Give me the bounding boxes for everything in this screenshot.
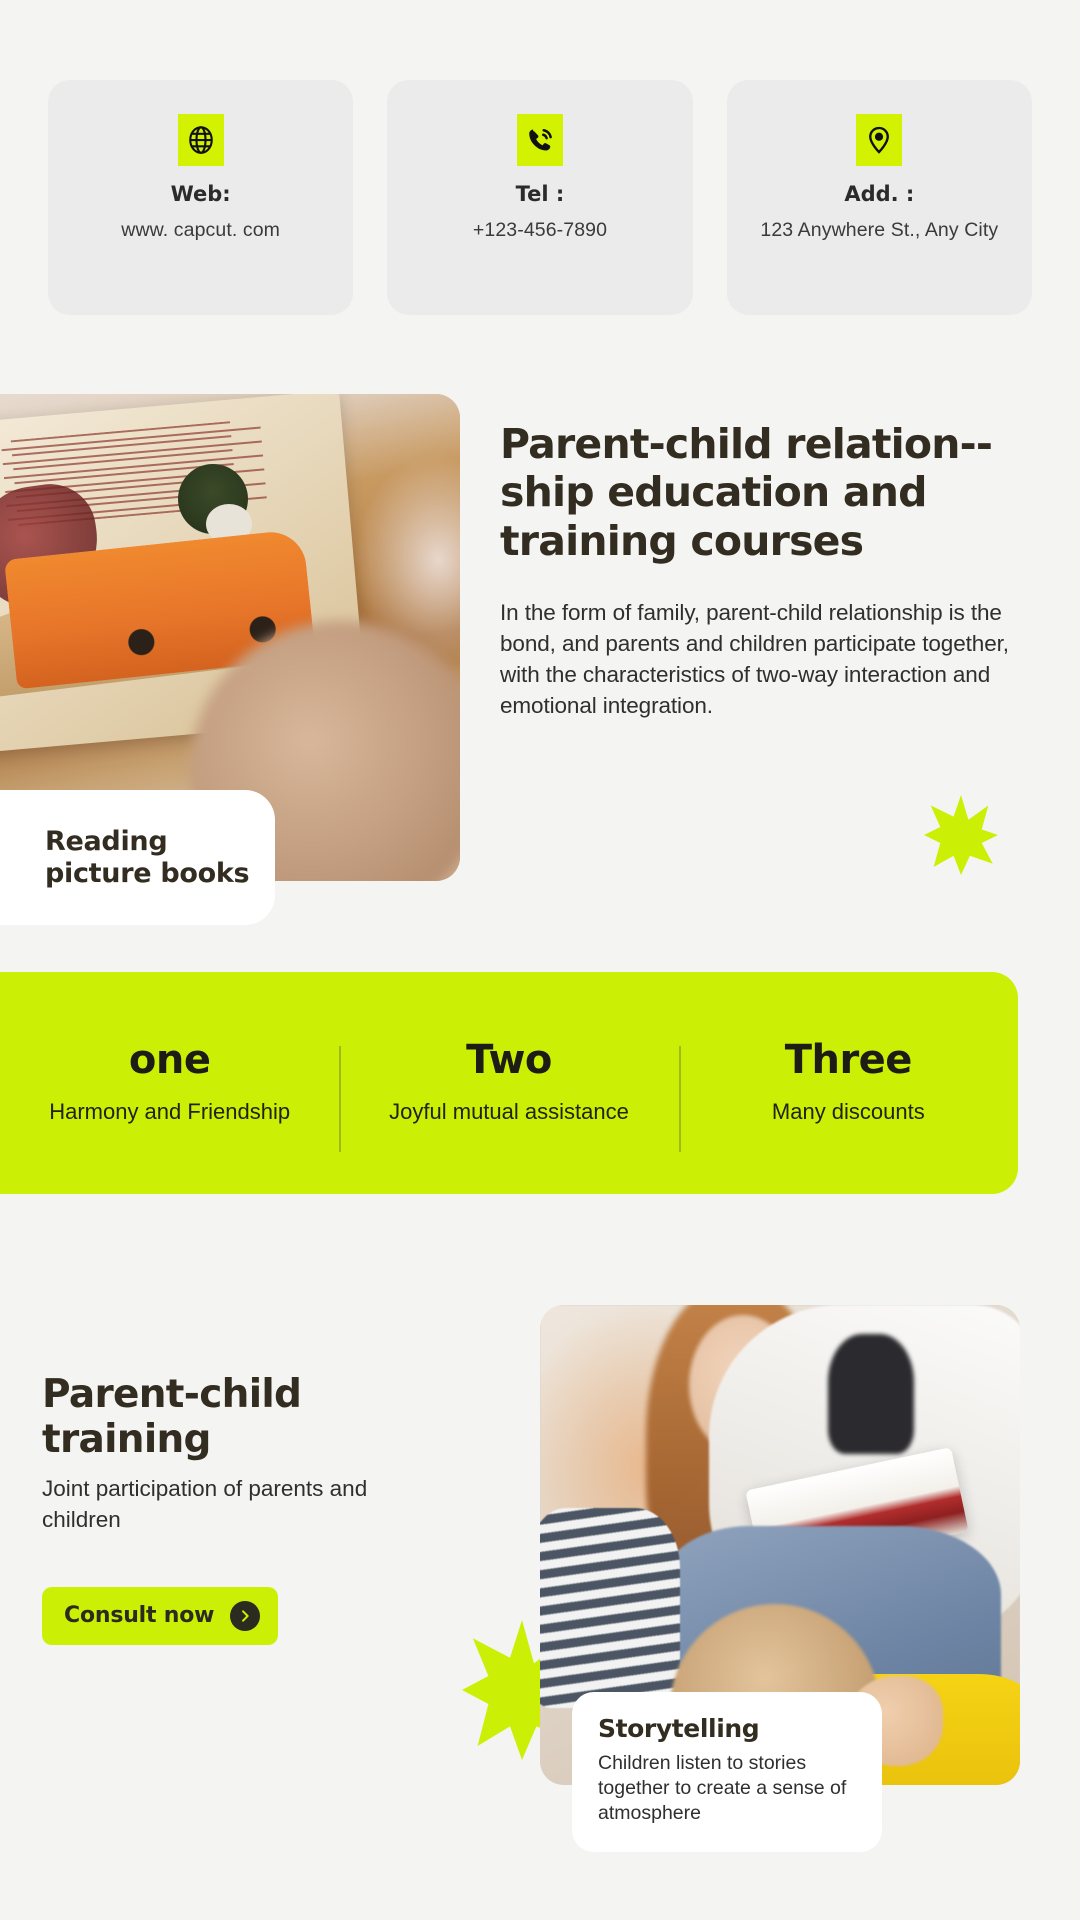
contact-card-address[interactable]: Add. : 123 Anywhere St., Any City	[727, 80, 1032, 315]
training-photo-top	[828, 1334, 914, 1454]
contact-label: Web:	[171, 182, 231, 206]
globe-icon	[178, 114, 224, 166]
feature-item-two: Two Joyful mutual assistance	[339, 1040, 678, 1126]
hero-caption-text: Reading picture books	[45, 826, 275, 889]
arrow-right-icon	[230, 1601, 260, 1631]
bottom-title: Parent-child training	[42, 1372, 442, 1462]
location-icon	[856, 114, 902, 166]
features-band: one Harmony and Friendship Two Joyful mu…	[0, 972, 1018, 1194]
starburst-icon	[924, 795, 998, 875]
storytelling-title: Storytelling	[598, 1714, 856, 1743]
contact-card-web[interactable]: Web: www. capcut. com	[48, 80, 353, 315]
training-photo-striped-shirt	[540, 1508, 680, 1708]
feature-description: Harmony and Friendship	[14, 1098, 325, 1126]
consult-now-button[interactable]: Consult now	[42, 1587, 278, 1645]
contact-value: 123 Anywhere St., Any City	[760, 219, 998, 242]
feature-number: Two	[353, 1040, 664, 1080]
contact-value: www. capcut. com	[121, 219, 280, 242]
phone-icon	[517, 114, 563, 166]
page-title: Parent-child relation--ship education an…	[500, 420, 1030, 565]
feature-item-three: Three Many discounts	[679, 1040, 1018, 1126]
feature-description: Joyful mutual assistance	[353, 1098, 664, 1126]
feature-number: one	[14, 1040, 325, 1080]
feature-description: Many discounts	[693, 1098, 1004, 1126]
hero-copy: Parent-child relation--ship education an…	[500, 420, 1030, 721]
feature-number: Three	[693, 1040, 1004, 1080]
feature-item-one: one Harmony and Friendship	[0, 1040, 339, 1126]
hero-caption-card: Reading picture books	[0, 790, 275, 925]
storytelling-card: Storytelling Children listen to stories …	[572, 1692, 882, 1852]
contact-card-tel[interactable]: Tel : +123-456-7890	[387, 80, 692, 315]
hero-description: In the form of family, parent-child rela…	[500, 597, 1030, 721]
storytelling-body: Children listen to stories together to c…	[598, 1751, 856, 1825]
contact-label: Tel :	[516, 182, 565, 206]
contact-value: +123-456-7890	[473, 219, 607, 242]
bottom-subtitle: Joint participation of parents and child…	[42, 1474, 442, 1534]
poster-page: Web: www. capcut. com Tel : +123-456-789…	[0, 0, 1080, 1920]
contact-label: Add. :	[844, 182, 914, 206]
bottom-copy: Parent-child training Joint participatio…	[42, 1372, 442, 1645]
contact-row: Web: www. capcut. com Tel : +123-456-789…	[48, 80, 1032, 315]
consult-now-label: Consult now	[64, 1603, 214, 1628]
